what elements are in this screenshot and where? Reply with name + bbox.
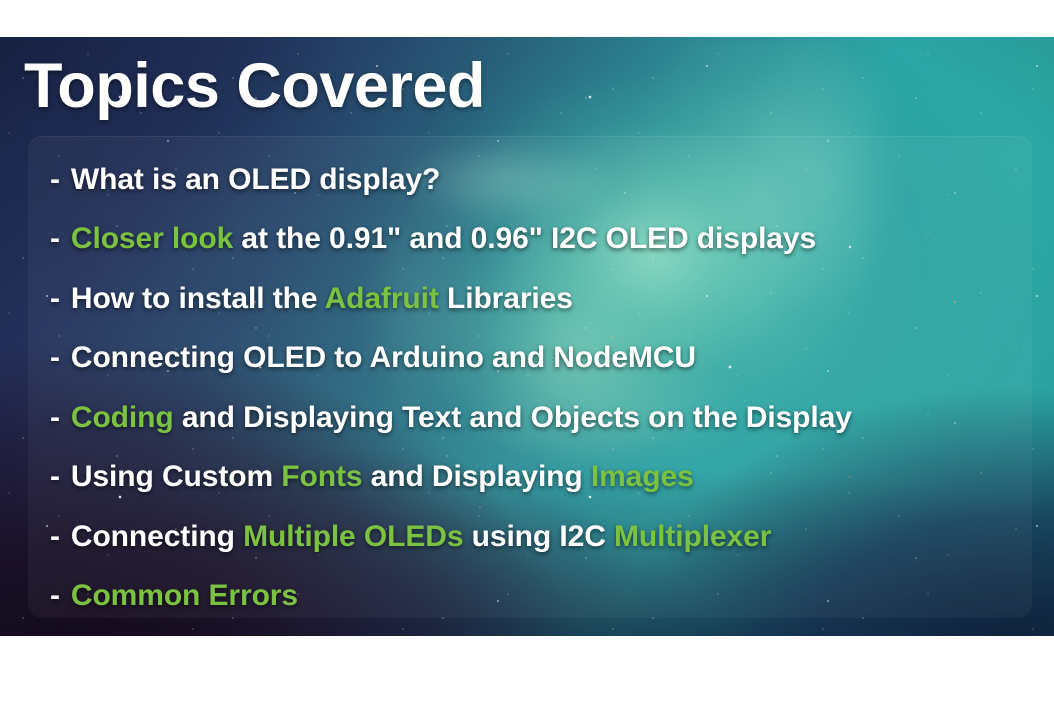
bullet-text: Connecting OLED to Arduino and NodeMCU	[71, 341, 696, 375]
bullet-item: -Coding and Displaying Text and Objects …	[50, 388, 1010, 448]
bullet-item: -What is an OLED display?	[50, 150, 1010, 210]
bullet-marker: -	[50, 579, 60, 613]
bullet-segment: at the 0.91" and 0.96" I2C OLED displays	[233, 222, 816, 255]
bullet-text: Coding and Displaying Text and Objects o…	[71, 401, 852, 435]
bullet-highlight: Coding	[71, 401, 174, 434]
bullet-item: -Closer look at the 0.91" and 0.96" I2C …	[50, 210, 1010, 270]
page-title: Topics Covered	[24, 55, 485, 118]
bullet-segment: How to install the	[71, 282, 325, 315]
bullet-segment: and Displaying	[362, 460, 590, 493]
bullet-text: Connecting Multiple OLEDs using I2C Mult…	[71, 520, 771, 554]
bullet-highlight: Adafruit	[325, 282, 439, 315]
bullet-text: Closer look at the 0.91" and 0.96" I2C O…	[71, 222, 816, 256]
bullet-highlight: Fonts	[281, 460, 362, 493]
bullet-marker: -	[50, 341, 60, 375]
bullet-highlight: Multiplexer	[614, 520, 771, 553]
bullet-highlight: Multiple OLEDs	[243, 520, 463, 553]
bullet-text: Common Errors	[71, 579, 298, 613]
bullet-marker: -	[50, 282, 60, 316]
bullet-list: -What is an OLED display?-Closer look at…	[50, 150, 1010, 626]
bullet-marker: -	[50, 222, 60, 256]
bullet-highlight: Common Errors	[71, 579, 298, 612]
bullet-marker: -	[50, 163, 60, 197]
bullet-item: -Common Errors	[50, 567, 1010, 627]
bullet-item: -Connecting OLED to Arduino and NodeMCU	[50, 329, 1010, 389]
slide-frame: Topics Covered -What is an OLED display?…	[0, 37, 1054, 636]
bullet-segment: Connecting OLED to Arduino and NodeMCU	[71, 341, 696, 374]
bullet-item: -Connecting Multiple OLEDs using I2C Mul…	[50, 507, 1010, 567]
bullet-highlight: Images	[591, 460, 694, 493]
bullet-item: -How to install the Adafruit Libraries	[50, 269, 1010, 329]
bullet-segment: and Displaying Text and Objects on the D…	[174, 401, 852, 434]
bullet-segment: Using Custom	[71, 460, 281, 493]
bullet-segment: Libraries	[439, 282, 573, 315]
bullet-marker: -	[50, 460, 60, 494]
bullet-segment: Connecting	[71, 520, 243, 553]
bullet-text: Using Custom Fonts and Displaying Images	[71, 460, 694, 494]
bullet-item: -Using Custom Fonts and Displaying Image…	[50, 448, 1010, 508]
bullet-segment: using I2C	[463, 520, 614, 553]
bullet-text: What is an OLED display?	[71, 163, 440, 197]
bullet-marker: -	[50, 401, 60, 435]
bullet-marker: -	[50, 520, 60, 554]
bullet-highlight: Closer look	[71, 222, 233, 255]
bullet-segment: What is an OLED display?	[71, 163, 440, 196]
bullet-text: How to install the Adafruit Libraries	[71, 282, 573, 316]
